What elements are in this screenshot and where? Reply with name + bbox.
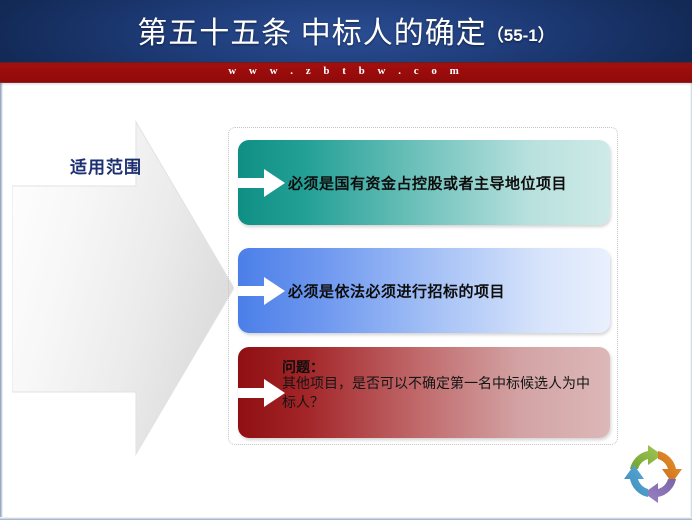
header-banner: 第五十五条 中标人的确定（55-1） xyxy=(0,0,692,62)
slide-canvas: 第五十五条 中标人的确定（55-1） w w w . z b t b w . c… xyxy=(0,0,692,520)
white-right-arrow-icon xyxy=(238,276,286,306)
white-right-arrow-icon xyxy=(238,168,286,198)
website-url-text: w w w . z b t b w . c o m xyxy=(0,65,692,77)
recycle-arrows-logo xyxy=(622,443,684,505)
condition-box-1-text: 必须是国有资金占控股或者主导地位项目 xyxy=(288,172,598,193)
slide-title: 第五十五条 中标人的确定（55-1） xyxy=(0,8,692,52)
website-bar: w w w . z b t b w . c o m xyxy=(0,62,692,83)
header-drop-shadow xyxy=(0,82,692,86)
white-right-arrow-icon xyxy=(238,378,286,408)
scope-arrow-label: 适用范围 xyxy=(26,153,186,178)
question-box[interactable]: 问题： 其他项目，是否可以不确定第一名中标候选人为中标人？ xyxy=(238,347,610,438)
condition-box-2[interactable]: 必须是依法必须进行招标的项目 xyxy=(238,248,610,333)
condition-box-1[interactable]: 必须是国有资金占控股或者主导地位项目 xyxy=(238,140,610,225)
question-box-title: 问题： xyxy=(282,357,324,377)
slide-title-main: 第五十五条 中标人的确定 xyxy=(137,17,487,50)
slide-title-code: （55-1） xyxy=(487,26,555,45)
condition-box-2-text: 必须是依法必须进行招标的项目 xyxy=(288,280,598,301)
question-box-text: 其他项目，是否可以不确定第一名中标候选人为中标人？ xyxy=(282,375,598,413)
